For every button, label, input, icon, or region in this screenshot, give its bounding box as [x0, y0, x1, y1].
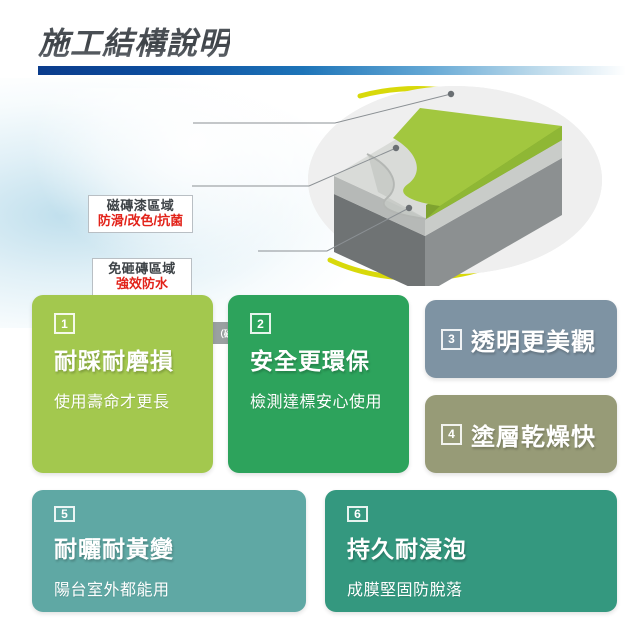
- callout-2-line2: 強效防水: [99, 277, 185, 292]
- feature-card-5[interactable]: 5 耐曬耐黃變 陽台室外都能用: [32, 490, 306, 612]
- callout-tile-paint-zone: 磁磚漆區域 防滑/改色/抗菌: [88, 195, 193, 233]
- header: 施工結構說明: [0, 0, 640, 80]
- feature-title-6: 持久耐浸泡: [347, 530, 467, 564]
- callout-no-demolition-zone: 免砸磚區域 強效防水: [92, 258, 192, 296]
- feature-title-5: 耐曬耐黃變: [54, 530, 174, 564]
- feature-title-1: 耐踩耐磨損: [54, 342, 174, 376]
- feature-badge-1: 1: [54, 313, 75, 334]
- callout-1-line1: 磁磚漆區域: [95, 199, 186, 214]
- feature-badge-6: 6: [347, 506, 368, 522]
- feature-card-2[interactable]: 2 安全更環保 檢測達標安心使用: [228, 295, 409, 473]
- title-rule: [38, 66, 626, 75]
- leader-dot-2: [393, 145, 399, 151]
- structure-diagram: 磁磚漆區域 防滑/改色/抗菌 免砸磚區域 強效防水 基 材 （磁磚面）: [0, 82, 640, 286]
- feature-title-4: 塗層乾燥快: [471, 417, 596, 452]
- callout-2-line1: 免砸磚區域: [99, 262, 185, 277]
- feature-badge-5: 5: [54, 506, 75, 522]
- feature-card-6[interactable]: 6 持久耐浸泡 成膜堅固防脫落: [325, 490, 617, 612]
- feature-card-1[interactable]: 1 耐踩耐磨損 使用壽命才更長: [32, 295, 213, 473]
- feature-title-3: 透明更美觀: [471, 322, 596, 357]
- infographic-page: 施工結構說明: [0, 0, 640, 640]
- feature-badge-4: 4: [441, 424, 462, 445]
- feature-subtitle-6: 成膜堅固防脫落: [347, 576, 463, 600]
- leader-dot-3: [406, 205, 412, 211]
- feature-title-2: 安全更環保: [250, 342, 370, 376]
- callout-1-line2: 防滑/改色/抗菌: [95, 214, 186, 229]
- feature-subtitle-2: 檢測達標安心使用: [250, 388, 382, 412]
- feature-subtitle-1: 使用壽命才更長: [54, 388, 170, 412]
- feature-card-4[interactable]: 4 塗層乾燥快: [425, 395, 617, 473]
- feature-card-3[interactable]: 3 透明更美觀: [425, 300, 617, 378]
- isometric-block-illustration: [0, 82, 640, 286]
- page-title: 施工結構說明: [38, 18, 230, 63]
- feature-badge-3: 3: [441, 329, 462, 350]
- feature-subtitle-5: 陽台室外都能用: [54, 576, 170, 600]
- feature-badge-2: 2: [250, 313, 271, 334]
- leader-dot-1: [448, 91, 454, 97]
